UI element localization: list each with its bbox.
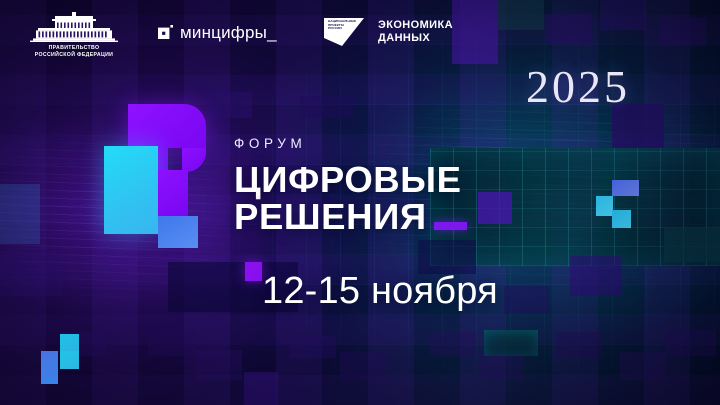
forum-monogram-logo-small [38, 334, 100, 390]
event-kicker: ФОРУМ [234, 136, 467, 152]
deco-block [620, 352, 666, 380]
logo-mincifry: минцифры_ [158, 24, 277, 41]
monogram-square-cyan-stem [104, 146, 158, 234]
deco-block [478, 192, 512, 224]
monogram-square-purple-top [128, 104, 206, 148]
title-underscore-accent [434, 222, 467, 230]
national-projects-flag-icon: НАЦИОНАЛЬНЫЕ ПРОЕКТЫ РОССИИ [322, 16, 370, 50]
monogram-small-square-cyan-right [60, 351, 79, 369]
mincifry-wordmark: минцифры_ [180, 24, 277, 41]
monogram-square-purple-bowl-right [182, 148, 206, 172]
deco-block [504, 286, 550, 314]
deco-block [0, 184, 40, 244]
deco-block [556, 332, 602, 358]
deco-block [484, 330, 538, 356]
deco-block [0, 250, 62, 296]
logo-economy-of-data: НАЦИОНАЛЬНЫЕ ПРОЕКТЫ РОССИИ ЭКОНОМИКА ДА… [322, 16, 453, 50]
partner-logo-bar: ПРАВИТЕЛЬСТВО РОССИЙСКОЙ ФЕДЕРАЦИИ минци… [0, 0, 720, 68]
deco-square-cyan [612, 210, 631, 228]
monogram-square-blue-foot [158, 216, 198, 248]
government-building-icon [28, 12, 120, 42]
economy-of-data-wordmark: ЭКОНОМИКА ДАННЫХ [378, 16, 453, 44]
monogram-small-square-blue-stem [41, 351, 58, 384]
mincifry-square-icon [158, 25, 173, 40]
logo-government-of-russia: ПРАВИТЕЛЬСТВО РОССИЙСКОЙ ФЕДЕРАЦИИ [18, 12, 130, 58]
deco-square-cyan [596, 196, 613, 216]
event-title-line1: ЦИФРОВЫЕ [234, 161, 467, 198]
deco-block [666, 330, 716, 356]
government-logo-line1: ПРАВИТЕЛЬСТВО [18, 45, 130, 52]
deco-block [570, 256, 622, 296]
forum-monogram-logo [104, 104, 228, 248]
deco-square-blue [612, 180, 639, 196]
government-logo-line2: РОССИЙСКОЙ ФЕДЕРАЦИИ [18, 52, 130, 59]
deco-block [244, 372, 278, 405]
event-date: 12-15 ноября [262, 269, 498, 313]
economy-of-data-line1: ЭКОНОМИКА [378, 19, 453, 31]
national-projects-flag-text: НАЦИОНАЛЬНЫЕ ПРОЕКТЫ РОССИИ [328, 20, 357, 31]
monogram-small-square-cyan-top [60, 334, 79, 351]
deco-block [478, 352, 524, 380]
date-accent-square [245, 262, 262, 281]
flag-line3: РОССИИ [328, 26, 342, 30]
economy-of-data-line2: ДАННЫХ [378, 32, 430, 44]
deco-block [290, 336, 336, 358]
event-title-block: ФОРУМ ЦИФРОВЫЕ РЕШЕНИЯ [234, 136, 467, 235]
deco-block [196, 350, 242, 380]
event-title-line2: РЕШЕНИЯ [234, 198, 427, 235]
deco-block [300, 96, 354, 118]
event-year: 2025 [526, 64, 630, 110]
deco-block [148, 330, 194, 356]
event-title: ЦИФРОВЫЕ РЕШЕНИЯ [234, 161, 467, 235]
monogram-square-purple-descender [158, 170, 188, 216]
deco-block [664, 228, 720, 262]
event-poster: ПРАВИТЕЛЬСТВО РОССИЙСКОЙ ФЕДЕРАЦИИ минци… [0, 0, 720, 405]
deco-block [340, 352, 386, 380]
deco-block [430, 332, 476, 356]
